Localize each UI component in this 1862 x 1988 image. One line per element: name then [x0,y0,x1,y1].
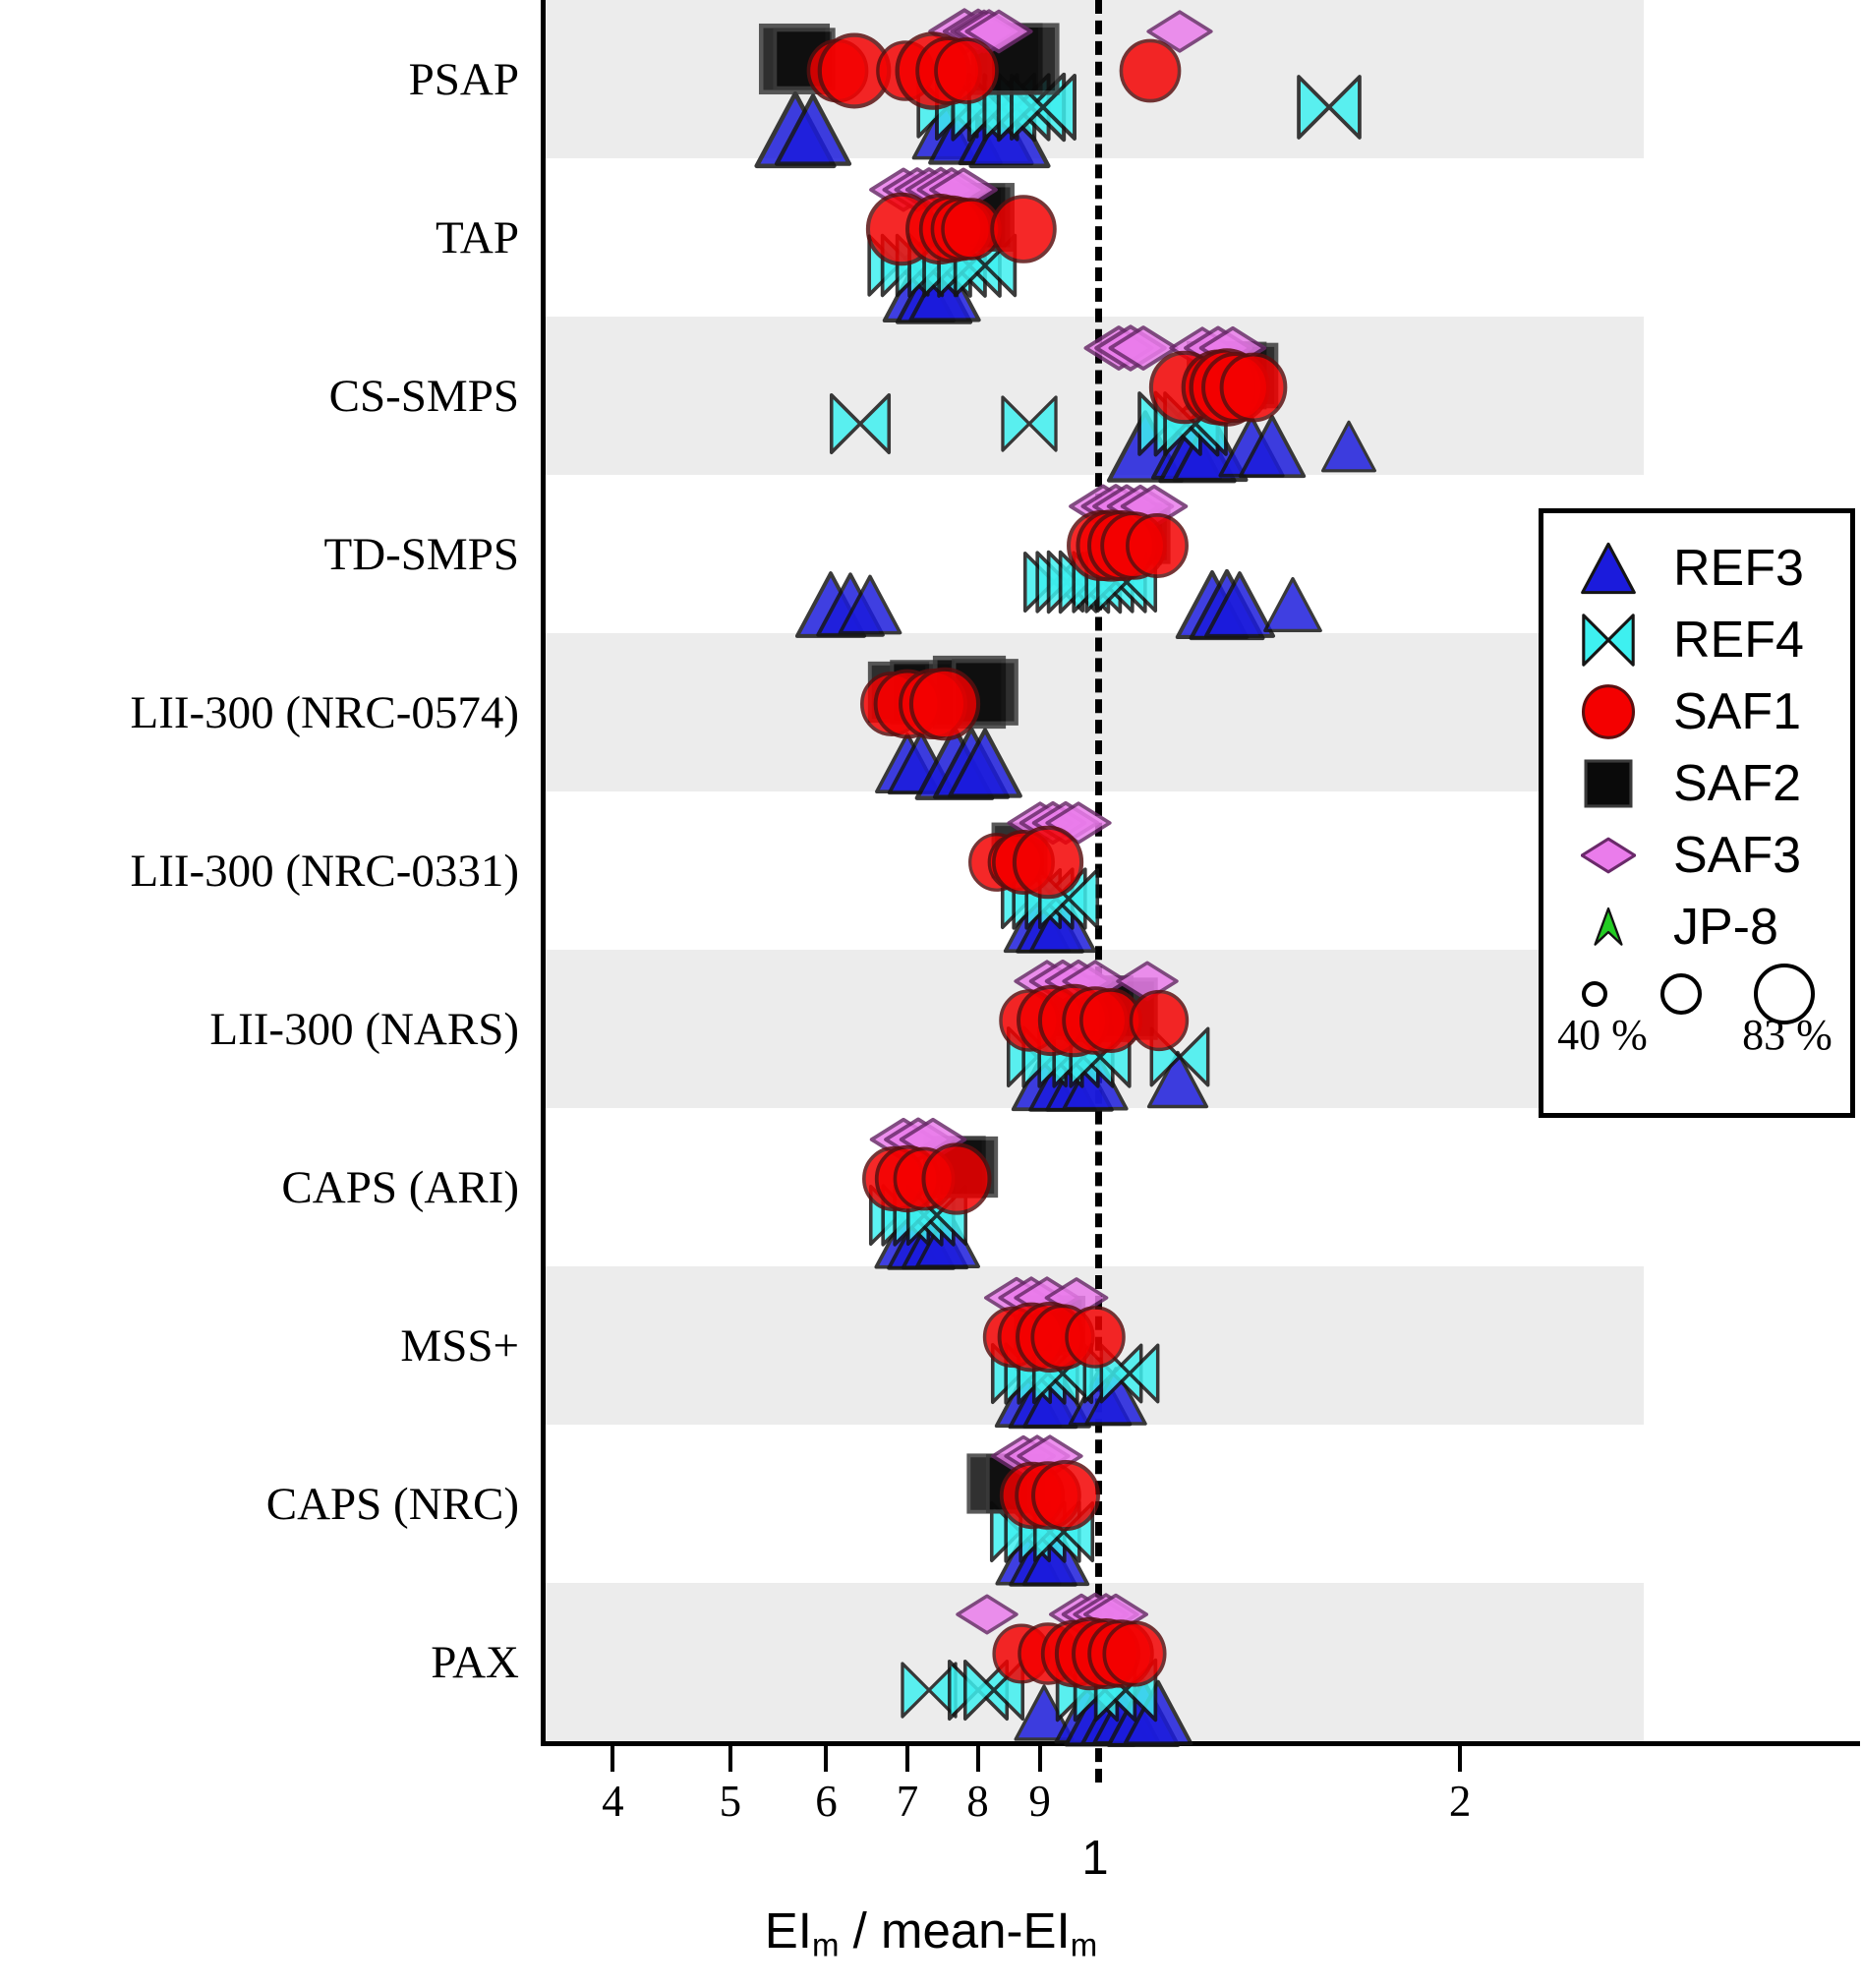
data-point-saf1 [989,195,1058,263]
data-point-ref4 [905,232,973,300]
data-point-saf3 [917,155,986,224]
data-point-saf1 [996,1303,1066,1373]
data-point-saf3 [1007,790,1072,855]
data-point-ref4 [1098,1343,1161,1406]
data-point-saf1 [1219,353,1289,423]
data-point-ref3 [1015,1682,1075,1742]
data-point-ref4 [1003,1341,1068,1406]
data-point-ref3 [958,91,1033,167]
x-tick-6 [824,1746,828,1772]
legend-marker-circle-icon [1543,684,1673,739]
legend-item-saf1[interactable]: SAF1 [1543,674,1850,749]
data-point-saf2 [962,1449,1031,1518]
data-point-ref3 [1321,419,1376,474]
data-point-saf3 [956,0,1023,66]
data-point-saf1 [933,37,1000,104]
data-point-saf3 [965,0,1032,65]
data-point-ref4 [1018,1499,1082,1564]
data-point-saf3 [1121,473,1187,539]
data-point-ref3 [915,1205,980,1270]
data-point-saf1 [859,672,924,736]
data-point-ref4 [900,1661,959,1720]
data-point-ref3 [1218,413,1284,479]
data-point-saf1 [918,196,986,263]
data-point-saf3 [1050,1583,1114,1647]
data-point-saf3 [870,1106,936,1172]
legend-label-ref4: REF4 [1673,614,1804,666]
legend-box: REF3 REF4SAF1SAF2SAF3JP-8 40 % 83 % [1539,508,1855,1118]
legend-label-saf2: SAF2 [1673,758,1801,809]
data-point-ref3 [994,1363,1062,1431]
data-point-saf1 [894,32,972,111]
data-point-saf1 [872,670,942,739]
x-tick-label-8: 8 [966,1776,989,1827]
data-point-saf1 [1125,513,1190,578]
legend-item-jp-8[interactable]: JP-8 [1543,890,1850,965]
data-point-saf1 [999,1462,1067,1530]
data-point-saf1 [991,830,1056,895]
data-point-ref3 [1084,1365,1147,1428]
data-point-saf2 [1106,499,1175,568]
data-point-saf3 [1147,0,1212,64]
data-point-ref4 [933,73,1003,143]
data-point-saf2 [1194,336,1272,414]
data-point-saf1 [1099,511,1168,580]
data-point-saf2 [982,1449,1050,1517]
legend-marker-tri-star-icon [1543,906,1673,948]
data-point-ref3 [1009,1520,1077,1589]
data-point-saf2 [987,818,1051,882]
data-point-saf1 [1053,1617,1127,1691]
x-tick-label-1: 1 [1081,1831,1108,1886]
data-point-ref3 [883,252,957,325]
data-point-ref4 [950,72,1020,143]
data-point-ref4 [1092,1658,1158,1724]
data-point-ref3 [887,1203,956,1272]
data-point-saf3 [1093,473,1161,541]
data-point-ref4 [1005,1025,1069,1089]
data-point-saf1 [1016,985,1086,1056]
data-point-saf2 [932,178,1010,256]
data-point-ref3 [968,88,1051,171]
data-point-ref4 [981,72,1052,143]
data-point-saf2 [933,1132,1003,1201]
x-tick-label-6: 6 [815,1776,838,1827]
data-point-ref4 [966,72,1039,145]
data-point-saf2 [768,23,839,93]
data-point-saf2 [1046,972,1117,1043]
data-point-ref3 [1022,1362,1091,1431]
data-point-saf3 [1095,313,1166,383]
data-point-ref4 [914,75,979,140]
data-point-saf1 [992,1624,1052,1684]
data-point-saf2 [1208,337,1283,412]
data-point-saf3 [929,156,997,224]
data-point-ref4 [866,233,931,298]
size-circle-medium [1660,973,1702,1015]
legend-marker-square-icon [1543,756,1673,811]
legend-label-saf3: SAF3 [1673,830,1801,881]
data-point-ref4 [1057,550,1123,615]
data-point-ref3 [775,91,852,169]
data-point-saf3 [1019,789,1085,855]
data-point-saf2 [965,18,1048,100]
data-point-saf1 [998,990,1061,1053]
data-point-saf1 [1015,1302,1085,1373]
data-point-ref4 [1054,1658,1120,1724]
data-point-ref3 [928,92,1003,167]
data-point-saf3 [1117,951,1179,1013]
data-point-saf1 [1199,352,1270,423]
data-point-saf3 [900,1106,965,1172]
data-point-ref4 [868,1184,932,1248]
x-tick-9 [1038,1746,1042,1772]
data-point-ref4 [1296,74,1364,142]
data-point-ref4 [1008,73,1077,143]
data-point-ref4 [880,233,946,299]
data-point-ref3 [1028,1045,1097,1114]
data-point-ref4 [1010,866,1075,931]
data-point-ref4 [1000,867,1064,931]
x-tick-4 [611,1746,614,1772]
data-point-ref4 [1000,394,1059,453]
data-point-ref3 [754,88,837,171]
size-circle-small [1582,981,1607,1007]
unity-reference-line [1095,0,1102,1783]
y-axis-line [541,0,546,1744]
legend-item-ref4[interactable]: REF4 [1543,603,1850,677]
x-axis-line [541,1741,1860,1746]
data-point-ref3 [1029,888,1097,956]
data-point-saf3 [999,1265,1064,1330]
data-point-saf1 [982,1307,1044,1369]
size-label-min: 40 % [1557,1010,1648,1060]
data-point-saf1 [1029,1460,1100,1531]
data-point-ref3 [1147,1049,1209,1111]
data-point-ref3 [816,570,885,639]
data-point-saf1 [940,199,1003,262]
data-point-ref4 [1072,1658,1137,1724]
data-point-ref4 [1095,551,1159,614]
data-point-saf3 [1073,1582,1137,1647]
legend-marker-triangle-up-icon [1543,541,1673,596]
data-point-ref3 [838,573,902,637]
data-point-ref3 [1004,888,1072,956]
data-point-ref4 [946,1659,1010,1723]
data-point-ref4 [904,1184,968,1248]
data-point-saf1 [876,40,937,101]
data-point-saf1 [1101,1621,1167,1687]
data-point-ref3 [1016,887,1084,956]
data-point-saf3 [1015,949,1079,1014]
data-point-saf1 [816,33,892,109]
data-point-saf1 [908,668,982,741]
data-point-ref4 [1035,1024,1100,1089]
data-point-saf1 [914,36,983,105]
data-point-ref4 [1083,550,1148,614]
data-point-saf2 [754,18,835,98]
data-point-saf1 [1018,1623,1080,1686]
data-point-saf1 [1129,990,1191,1052]
chart-figure: PSAPTAPCS-SMPSTD-SMPSLII-300 (NRC-0574)L… [0,0,1862,1988]
data-point-saf3 [895,155,963,224]
data-point-ref4 [990,1342,1054,1406]
data-point-ref4 [829,392,893,456]
data-point-saf1 [987,834,1045,892]
data-point-saf1 [874,1145,942,1213]
data-point-saf1 [864,193,938,266]
data-point-saf1 [1118,39,1182,103]
data-point-ref3 [1175,568,1249,642]
data-point-saf3 [991,1425,1055,1489]
data-point-ref4 [1082,1343,1145,1406]
data-point-saf1 [898,669,968,739]
data-point-ref3 [932,725,1010,802]
data-point-ref3 [1239,413,1307,481]
data-point-saf1 [967,833,1026,892]
data-point-ref4 [1019,1024,1084,1089]
data-point-ref4 [989,1500,1053,1564]
data-point-saf3 [1033,789,1099,855]
data-point-ref3 [1263,575,1322,634]
data-point-ref3 [911,98,975,162]
data-point-saf3 [951,0,1018,65]
data-point-ref4 [1034,550,1099,614]
legend-label-ref3: REF3 [1673,543,1804,594]
data-point-saf3 [1070,473,1137,541]
data-point-ref4 [936,232,1004,300]
data-point-saf1 [805,39,869,103]
data-point-saf1 [861,1146,926,1211]
data-point-saf3 [1084,1583,1148,1647]
legend-item-ref3[interactable]: REF3 [1543,531,1850,606]
data-point-saf2 [1010,1291,1078,1360]
data-point-ref3 [1158,407,1237,486]
data-point-saf1 [1075,510,1147,583]
data-point-ref3 [1092,1678,1161,1747]
x-axis-title: EIm / mean-EIm [0,1901,1862,1963]
data-point-ref4 [1022,551,1086,614]
data-point-ref3 [874,1204,940,1270]
legend-marker-bowtie-icon [1543,613,1673,668]
data-point-ref3 [1045,1045,1114,1114]
data-point-saf1 [1029,1305,1095,1371]
data-point-saf2 [886,655,960,729]
data-point-saf3 [1081,472,1150,541]
data-point-ref4 [953,233,1018,299]
data-point-ref3 [948,726,1022,800]
data-point-saf1 [1078,988,1143,1053]
data-point-saf1 [892,1147,956,1211]
data-point-ref3 [1080,1677,1151,1748]
data-point-ref4 [1003,1499,1068,1564]
x-tick-label-5: 5 [720,1776,742,1827]
x-tick-8 [976,1746,980,1772]
data-point-saf3 [929,0,1000,67]
data-point-saf1 [1147,351,1221,425]
data-point-saf3 [985,1266,1049,1330]
legend-item-saf3[interactable]: SAF3 [1543,818,1850,893]
data-point-saf3 [1015,1265,1079,1330]
data-point-ref3 [896,250,973,327]
data-point-ref3 [914,723,994,802]
legend-item-saf2[interactable]: SAF2 [1543,746,1850,821]
data-point-saf2 [941,178,1019,257]
data-point-saf3 [1018,1424,1082,1489]
data-point-ref3 [1190,566,1265,642]
data-point-ref4 [1023,866,1088,931]
data-point-saf1 [1014,1461,1082,1530]
data-point-ref3 [1151,411,1222,482]
data-point-saf1 [904,194,975,264]
data-point-ref3 [1173,408,1249,484]
data-point-saf3 [957,1584,1018,1646]
size-label-max: 83 % [1742,1010,1833,1060]
data-point-ref4 [1032,1500,1096,1564]
data-point-saf1 [1180,350,1255,426]
data-point-ref4 [1030,1342,1094,1406]
data-point-ref3 [795,569,866,640]
data-point-saf3 [1170,316,1235,380]
data-point-ref3 [1203,569,1274,640]
data-point-ref4 [961,1659,1025,1723]
data-point-saf2 [948,654,1023,730]
data-point-ref3 [875,731,940,795]
data-point-saf3 [1029,948,1095,1014]
data-point-ref3 [1054,1679,1120,1745]
data-point-ref3 [1012,1046,1079,1114]
legend-label-saf1: SAF1 [1673,686,1801,737]
data-point-saf2 [1022,1291,1090,1359]
x-tick-2 [1458,1746,1462,1772]
data-point-ref3 [1008,1361,1077,1431]
data-point-ref4 [995,72,1068,145]
data-point-ref4 [1148,1026,1211,1089]
data-point-saf2 [1182,336,1260,415]
data-point-ref3 [1124,1677,1193,1747]
data-point-saf3 [943,0,1013,67]
data-point-ref4 [920,232,988,300]
data-point-ref3 [1106,1676,1180,1750]
data-point-ref4 [1036,867,1100,931]
data-point-saf3 [1004,1424,1069,1489]
data-point-ref3 [1107,408,1185,486]
data-point-saf1 [930,198,994,262]
x-tick-label-2: 2 [1449,1776,1472,1827]
data-point-saf3 [885,1106,953,1174]
data-point-saf1 [1012,826,1085,900]
data-point-saf2 [1095,497,1166,568]
x-tick-label-4: 4 [602,1776,624,1827]
data-point-saf3 [905,155,975,225]
data-point-ref4 [1162,390,1230,458]
x-tick-5 [728,1746,732,1772]
data-point-saf2 [928,650,1012,733]
data-point-ref3 [909,252,982,324]
data-point-saf2 [918,1131,989,1201]
data-point-ref3 [902,1204,969,1272]
data-point-saf2 [982,18,1065,100]
data-point-saf3 [1109,314,1178,382]
data-point-saf3 [1107,473,1173,539]
data-point-saf3 [870,156,938,224]
data-point-saf3 [883,155,952,224]
data-point-ref4 [1016,1341,1080,1406]
data-point-saf1 [1188,349,1266,428]
data-point-ref3 [995,1521,1061,1587]
data-point-ref4 [891,1183,956,1248]
legend-marker-diamond-icon [1543,828,1673,883]
data-point-saf1 [920,1143,993,1216]
data-point-saf2 [863,657,933,727]
data-point-ref4 [894,233,960,299]
x-tick-7 [905,1746,909,1772]
data-point-ref3 [1022,1521,1090,1589]
data-point-ref4 [1051,1024,1116,1089]
data-point-ref4 [1152,389,1221,458]
x-tick-label-7: 7 [897,1776,919,1827]
data-point-saf3 [1184,315,1251,382]
data-point-ref4 [1071,550,1135,614]
x-tick-label-9: 9 [1028,1776,1051,1827]
legend-label-jp-8: JP-8 [1673,902,1778,953]
data-point-saf3 [1200,315,1266,380]
data-point-ref4 [879,1183,944,1248]
data-point-ref3 [887,730,955,797]
data-point-ref4 [1135,390,1203,458]
data-point-saf1 [1070,1618,1140,1689]
